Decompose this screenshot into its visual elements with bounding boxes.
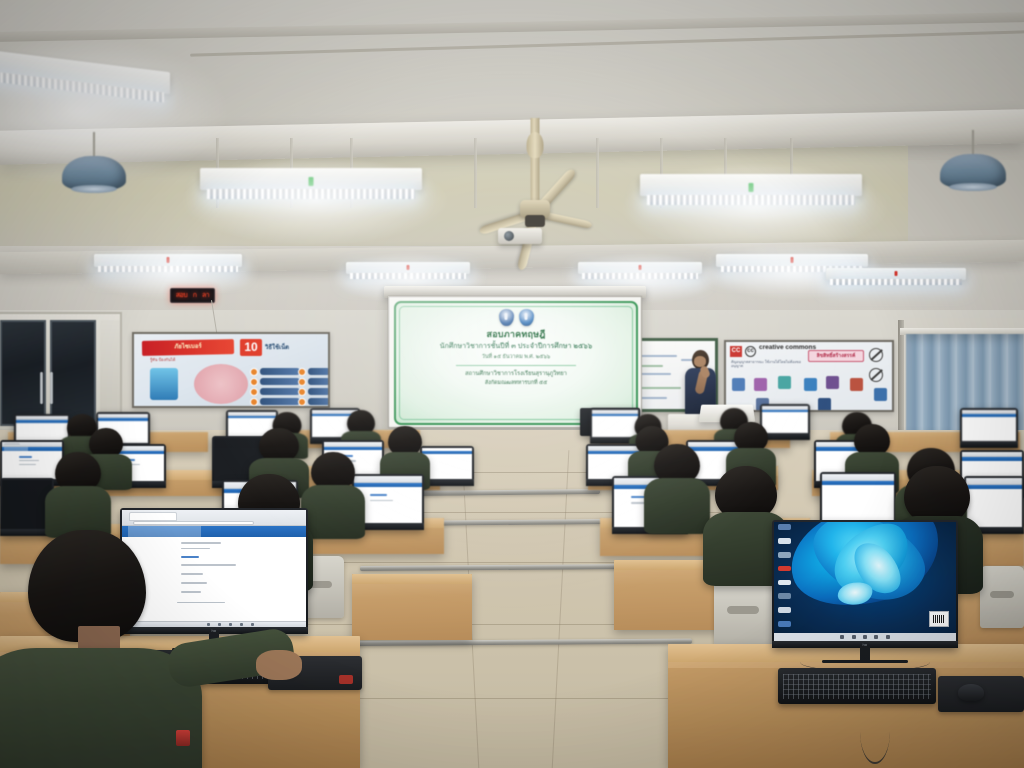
taskbar-icon-app[interactable] bbox=[886, 635, 890, 639]
pendant-shade bbox=[940, 154, 1006, 188]
led-segment: ก bbox=[193, 290, 197, 301]
poster-number: 10 bbox=[240, 339, 262, 356]
poster-figure bbox=[150, 368, 178, 400]
student-uniform bbox=[301, 485, 365, 539]
desktop-watermark-badge bbox=[929, 611, 949, 626]
poster-item-number bbox=[298, 378, 306, 386]
monitor-windows-desktop[interactable]: hp bbox=[772, 520, 958, 648]
poster-pink-banner-text: ลิขสิทธิ์สร้างสรรค์ bbox=[810, 352, 862, 360]
poster-item-row bbox=[260, 398, 300, 405]
browser-url-bar[interactable] bbox=[133, 521, 254, 525]
poster-item-number bbox=[298, 398, 306, 406]
student-foreground-left bbox=[0, 530, 200, 768]
ceiling-projector bbox=[498, 228, 542, 244]
poster-graphic-circle bbox=[194, 364, 248, 404]
fluorescent-fixture-3 bbox=[640, 174, 862, 196]
prohibited-icon bbox=[869, 348, 883, 362]
monitor-screen bbox=[962, 410, 1016, 441]
taskbar-icon[interactable] bbox=[218, 623, 221, 626]
poster-right-board: CC cc creative commons สัญอนุญาตสาธารณะ … bbox=[724, 340, 894, 412]
student bbox=[648, 444, 706, 528]
slide-divider bbox=[456, 365, 576, 366]
classroom-photo: สอบ ก ลา ภัยไซเบอร์ รู้ทัน ป้องกันได้ 10… bbox=[0, 0, 1024, 768]
pendant-lamp-right bbox=[940, 130, 1006, 194]
desk-surface bbox=[352, 574, 472, 584]
browser-tab[interactable] bbox=[129, 512, 177, 522]
fan-pole bbox=[531, 118, 540, 204]
poster-item-number bbox=[298, 388, 306, 396]
page-heading bbox=[370, 494, 386, 496]
led-display-sign: สอบ ก ลา bbox=[170, 288, 215, 303]
page-heading bbox=[19, 456, 32, 458]
poster-item-row bbox=[260, 378, 300, 385]
window-frame bbox=[898, 320, 904, 442]
led-segment: สอบ bbox=[176, 290, 187, 301]
browser-page bbox=[962, 417, 1016, 441]
uniform-badge bbox=[176, 730, 190, 746]
pendant-shade bbox=[62, 156, 126, 190]
poster-item-number bbox=[298, 368, 306, 376]
taskbar-icon-search[interactable] bbox=[852, 635, 856, 639]
fluorescent-fixture-5 bbox=[346, 262, 470, 274]
desk bbox=[352, 574, 472, 640]
poster-icon bbox=[818, 398, 831, 411]
taskbar-icon-start[interactable] bbox=[840, 635, 844, 639]
poster-item-row bbox=[260, 388, 300, 395]
poster-icon bbox=[826, 376, 839, 389]
cc-ring-icon: cc bbox=[745, 346, 756, 357]
slide-date: วันที่ ๑๕ ธันวาคม พ.ศ. ๒๕๖๖ bbox=[482, 353, 550, 361]
desktop-icon[interactable] bbox=[778, 580, 792, 586]
monitor-bezel: hp bbox=[772, 520, 958, 648]
desktop-icon[interactable] bbox=[778, 566, 792, 572]
windows-desktop bbox=[774, 522, 956, 641]
monitor-row1[interactable] bbox=[960, 408, 1018, 448]
slide-logos bbox=[499, 309, 534, 326]
mousepad-logo bbox=[339, 675, 352, 684]
taskbar-icon[interactable] bbox=[229, 623, 232, 626]
cc-mark-icon: CC bbox=[730, 346, 742, 357]
fluorescent-fixture-4 bbox=[94, 254, 242, 267]
pendant-rod bbox=[972, 130, 974, 156]
monitor-bezel bbox=[960, 408, 1018, 448]
prohibited-icon bbox=[869, 368, 883, 382]
presentation-slide: สอบภาคทฤษฎี นักศึกษาวิชาการชั้นปีที่ ๓ ป… bbox=[394, 301, 638, 425]
door-handle[interactable] bbox=[40, 372, 43, 404]
monitor-chin bbox=[960, 441, 1018, 448]
mouse[interactable] bbox=[958, 684, 984, 701]
fluorescent-fixture-7 bbox=[716, 254, 868, 267]
browser-tab[interactable] bbox=[4, 443, 20, 446]
student bbox=[48, 452, 108, 532]
taskbar-icon-explorer[interactable] bbox=[863, 635, 867, 639]
browser-page bbox=[822, 485, 894, 523]
cc-subtitle-text: สัญอนุญาตสาธารณะ ใช้งานได้โดยไม่ต้องขออน… bbox=[731, 360, 803, 369]
poster-item-row bbox=[308, 398, 330, 405]
pendant-rod bbox=[93, 132, 95, 158]
poster-icon bbox=[778, 376, 791, 389]
slide-unit-line: สังกัดมณฒลทหารบกที่ ๕๕ bbox=[485, 379, 547, 387]
chair[interactable] bbox=[714, 580, 772, 646]
poster-banner-text: ภัยไซเบอร์ bbox=[146, 340, 230, 352]
poster-subtitle: รู้ทัน ป้องกันได้ bbox=[150, 356, 175, 363]
chair-backrest-slot bbox=[990, 591, 1015, 598]
taskbar-icon[interactable] bbox=[240, 623, 243, 626]
desktop-icon[interactable] bbox=[778, 538, 792, 544]
poster-icon bbox=[874, 388, 887, 401]
fluorescent-fixture-8 bbox=[826, 268, 966, 280]
page-text bbox=[19, 460, 39, 462]
keyboard[interactable] bbox=[778, 668, 936, 704]
door-glass-right bbox=[50, 320, 96, 426]
emblem-logo-left bbox=[499, 309, 514, 326]
fluorescent-fixture-1 bbox=[0, 60, 170, 82]
chair-backrest-slot bbox=[727, 606, 759, 614]
fan-canopy bbox=[527, 132, 544, 158]
desktop-icon[interactable] bbox=[778, 607, 792, 613]
pendant-lamp-left bbox=[62, 132, 126, 194]
poster-icon bbox=[754, 378, 767, 391]
poster-item-row bbox=[260, 368, 300, 375]
student bbox=[304, 452, 362, 534]
whiteboard-writing bbox=[637, 387, 681, 389]
cable bbox=[860, 700, 890, 764]
windows-taskbar[interactable] bbox=[774, 633, 956, 641]
door-handle[interactable] bbox=[50, 372, 53, 404]
student-uniform bbox=[644, 478, 710, 534]
taskbar-icon-browser[interactable] bbox=[874, 635, 878, 639]
slide-title: สอบภาคทฤษฎี bbox=[487, 329, 546, 340]
student-head bbox=[259, 428, 299, 462]
desktop-icon[interactable] bbox=[778, 621, 792, 627]
led-segment: ลา bbox=[202, 290, 209, 301]
poster-icon bbox=[732, 378, 745, 391]
whiteboard-writing bbox=[637, 373, 671, 375]
fluorescent-fixture-6 bbox=[578, 262, 702, 274]
taskbar-icon[interactable] bbox=[207, 623, 210, 626]
pendant-lip bbox=[949, 183, 997, 191]
pendant-lip bbox=[71, 185, 117, 193]
chair[interactable] bbox=[980, 566, 1024, 628]
poster-left-board: ภัยไซเบอร์ รู้ทัน ป้องกันได้ 10 วิธีใช้เ… bbox=[132, 332, 330, 408]
taskbar-icon[interactable] bbox=[251, 623, 254, 626]
poster-item-row bbox=[308, 378, 330, 385]
slide-subtitle: นักศึกษาวิชาการชั้นปีที่ ๓ ประจำปีการศึก… bbox=[440, 342, 592, 351]
fan-motor bbox=[525, 215, 545, 227]
browser-chrome bbox=[822, 474, 894, 481]
desktop-icon[interactable] bbox=[778, 552, 792, 558]
page-text bbox=[19, 464, 36, 466]
poster-number-label: วิธีใช้เน็ต bbox=[265, 342, 289, 352]
poster-item-row bbox=[308, 388, 330, 395]
fluorescent-fixture-2 bbox=[200, 168, 422, 190]
poster-icon bbox=[850, 378, 863, 391]
floor-tile-line bbox=[552, 450, 570, 768]
monitor-screen bbox=[822, 474, 894, 523]
keyboard-keys bbox=[783, 674, 932, 699]
poster-item-number bbox=[250, 388, 258, 396]
door-sidelight bbox=[100, 320, 120, 426]
desktop-icon[interactable] bbox=[778, 524, 792, 530]
browser-chrome bbox=[122, 510, 306, 526]
monitor-screen bbox=[774, 522, 956, 641]
poster-item-number bbox=[250, 368, 258, 376]
desktop-icon[interactable] bbox=[778, 593, 792, 599]
student-hand bbox=[256, 650, 302, 680]
slide-org-line: สถานศึกษาวิชาการโรงเรียนสุรานุภูวิทยา bbox=[465, 370, 567, 378]
emblem-logo-right bbox=[519, 309, 534, 326]
poster-icon bbox=[804, 378, 817, 391]
poster-item-row bbox=[308, 368, 330, 375]
whiteboard-writing bbox=[637, 355, 677, 357]
bloom-wallpaper bbox=[798, 530, 933, 623]
page-text bbox=[370, 500, 393, 502]
projector-lens bbox=[504, 231, 514, 241]
browser-chrome bbox=[354, 476, 422, 483]
poster-item-number bbox=[250, 378, 258, 386]
poster-item-number bbox=[250, 398, 258, 406]
